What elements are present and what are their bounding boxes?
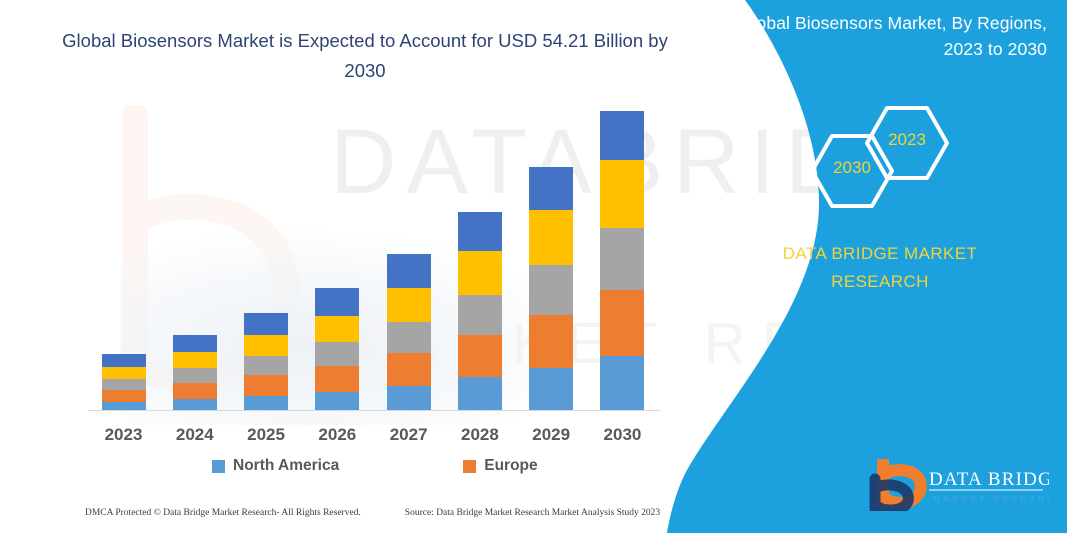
data-bridge-logo: DATA BRIDGE MARKET RESEARCH [867, 459, 1049, 511]
bar-segment [244, 396, 288, 411]
hexagon-2030-label: 2030 [812, 158, 892, 178]
legend-item[interactable]: North America [212, 457, 339, 475]
bar-segment [529, 315, 573, 368]
bar-column [88, 354, 159, 411]
legend-swatch [463, 460, 476, 473]
bar-segment [529, 265, 573, 315]
x-axis-label: 2029 [516, 425, 587, 445]
bar-column [373, 254, 444, 411]
bar-segment [387, 288, 431, 322]
chart-legend: North AmericaEurope [88, 452, 658, 480]
stacked-bar [315, 288, 359, 411]
bar-segment [387, 353, 431, 386]
footer: DMCA Protected © Data Bridge Market Rese… [85, 508, 685, 518]
bar-segment [244, 313, 288, 335]
bar-segment [244, 356, 288, 375]
bar-segment [458, 295, 502, 335]
brand-name: DATA BRIDGE MARKET RESEARCH [715, 240, 1045, 296]
bar-segment [315, 288, 359, 316]
bar-segment [315, 366, 359, 392]
bar-column [231, 313, 302, 411]
bar-segment [458, 335, 502, 377]
bar-segment [387, 386, 431, 411]
bar-segment [102, 379, 146, 390]
brand-panel: Global Biosensors Market, By Regions, 20… [667, 0, 1067, 533]
bar-segment [173, 352, 217, 368]
data-bridge-logo-icon: DATA BRIDGE MARKET RESEARCH [867, 459, 1049, 511]
footer-source: Source: Data Bridge Market Research Mark… [405, 508, 660, 518]
bar-segment [102, 390, 146, 402]
x-axis-label: 2024 [159, 425, 230, 445]
bar-segment [102, 367, 146, 379]
bar-segment [244, 375, 288, 396]
brand-name-line1: DATA BRIDGE MARKET [715, 240, 1045, 268]
legend-swatch [212, 460, 225, 473]
bar-segment [600, 356, 644, 411]
logo-wordmark: DATA BRIDGE [929, 469, 1049, 490]
bar-segment [315, 316, 359, 342]
logo-subtext: MARKET RESEARCH [933, 494, 1049, 504]
bar-segment [102, 354, 146, 367]
infographic-canvas: DATABRIDGE MARKET RESEARCH Global Biosen… [0, 0, 1067, 533]
chart-plot-area [88, 120, 658, 411]
bar-column [159, 335, 230, 411]
bar-segment [529, 167, 573, 210]
bar-segment [173, 383, 217, 399]
stacked-bar [244, 313, 288, 411]
stacked-bar [600, 111, 644, 411]
stacked-bar [102, 354, 146, 411]
stacked-bar [529, 167, 573, 411]
bar-column [302, 288, 373, 411]
x-axis-line [88, 410, 660, 411]
legend-item[interactable]: Europe [463, 457, 537, 475]
bar-segment [600, 111, 644, 160]
bar-segment [387, 254, 431, 288]
bar-column [516, 167, 587, 411]
hexagon-badges: 2023 2030 [777, 98, 997, 218]
bar-segment [387, 322, 431, 353]
x-axis-label: 2023 [88, 425, 159, 445]
bar-segment [458, 377, 502, 411]
chart-title: Global Biosensors Market is Expected to … [60, 26, 670, 86]
panel-title: Global Biosensors Market, By Regions, 20… [717, 10, 1047, 62]
bar-segment [600, 228, 644, 290]
x-axis-labels: 20232024202520262027202820292030 [88, 425, 658, 445]
stacked-bar [458, 212, 502, 411]
legend-label: Europe [484, 457, 537, 475]
bar-segment [529, 210, 573, 265]
bar-segment [600, 160, 644, 228]
x-axis-label: 2027 [373, 425, 444, 445]
hexagon-2023-label: 2023 [867, 130, 947, 150]
bar-group [88, 120, 658, 411]
bar-segment [315, 342, 359, 366]
bar-segment [173, 335, 217, 352]
x-axis-label: 2028 [444, 425, 515, 445]
bar-column [444, 212, 515, 411]
footer-copyright: DMCA Protected © Data Bridge Market Rese… [85, 508, 361, 518]
bar-segment [529, 368, 573, 411]
stacked-bar [173, 335, 217, 411]
x-axis-label: 2026 [302, 425, 373, 445]
bar-segment [600, 290, 644, 356]
bar-segment [173, 368, 217, 383]
bar-segment [458, 251, 502, 295]
brand-name-line2: RESEARCH [715, 268, 1045, 296]
x-axis-label: 2025 [231, 425, 302, 445]
legend-label: North America [233, 457, 339, 475]
bar-segment [315, 392, 359, 411]
x-axis-label: 2030 [587, 425, 658, 445]
stacked-bar [387, 254, 431, 411]
bar-segment [244, 335, 288, 356]
bar-segment [458, 212, 502, 251]
bar-column [587, 111, 658, 411]
